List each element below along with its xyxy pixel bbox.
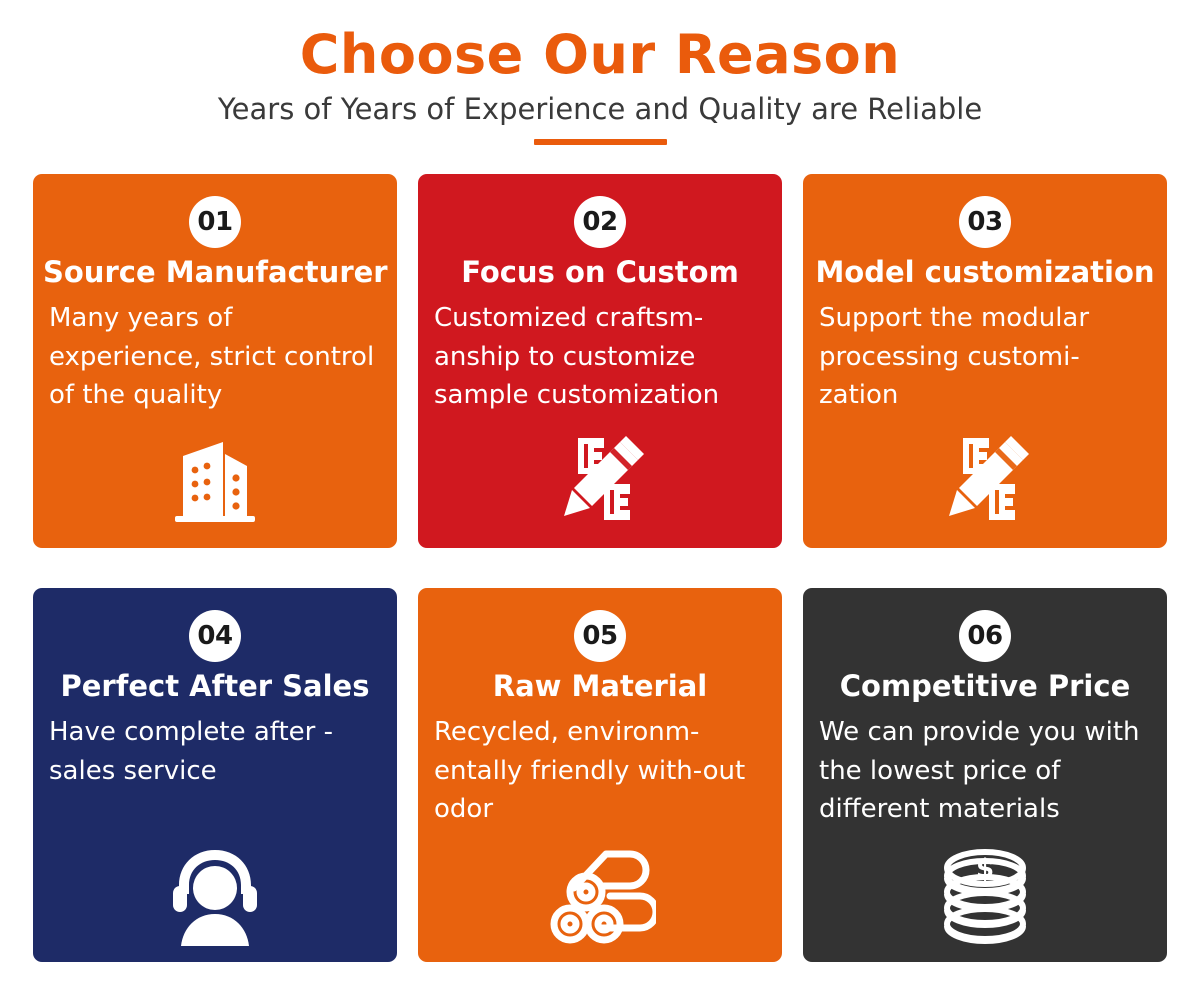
card-body: We can provide you with the lowest price… [813, 713, 1157, 828]
reason-card-05[interactable]: 05 Raw Material Recycled, environm-ental… [418, 588, 782, 962]
card-heading: Perfect After Sales [43, 670, 387, 703]
card-number-badge: 03 [959, 196, 1011, 248]
reason-card-grid: 01 Source Manufacturer Many years of exp… [33, 174, 1167, 962]
page-subtitle: Years of Years of Experience and Quality… [0, 92, 1200, 127]
card-heading: Model customization [813, 256, 1157, 289]
card-heading: Competitive Price [813, 670, 1157, 703]
title-underline-bar [534, 139, 667, 145]
page-title: Choose Our Reason [0, 24, 1200, 86]
svg-text:$: $ [976, 854, 994, 884]
card-icon-wrap [33, 430, 397, 530]
card-heading: Source Manufacturer [43, 256, 387, 289]
card-heading: Focus on Custom [428, 256, 772, 289]
office-building-icon [165, 430, 265, 530]
card-heading: Raw Material [428, 670, 772, 703]
reason-card-01[interactable]: 01 Source Manufacturer Many years of exp… [33, 174, 397, 548]
card-number-badge: 05 [574, 610, 626, 662]
card-body: Customized craftsm-anship to customize s… [428, 299, 772, 414]
card-number-badge: 04 [189, 610, 241, 662]
card-body: Many years of experience, strict control… [43, 299, 387, 414]
reason-card-04[interactable]: 04 Perfect After Sales Have complete aft… [33, 588, 397, 962]
reason-card-03[interactable]: 03 Model customization Support the modul… [803, 174, 1167, 548]
header: Choose Our Reason Years of Years of Expe… [0, 0, 1200, 145]
card-body: Have complete after -sales service [43, 713, 387, 790]
card-number-badge: 02 [574, 196, 626, 248]
card-icon-wrap [418, 430, 782, 530]
reason-card-06[interactable]: 06 Competitive Price We can provide you … [803, 588, 1167, 962]
card-icon-wrap [33, 836, 397, 948]
pencil-ruler-icon [933, 426, 1037, 530]
reason-card-02[interactable]: 02 Focus on Custom Customized craftsm-an… [418, 174, 782, 548]
card-number-badge: 06 [959, 610, 1011, 662]
headset-support-icon [161, 844, 269, 948]
infographic-page: Choose Our Reason Years of Years of Expe… [0, 0, 1200, 1000]
stacked-pipes-icon [544, 842, 656, 948]
pencil-ruler-icon [548, 426, 652, 530]
card-body: Recycled, environm-entally friendly with… [428, 713, 772, 828]
coin-stack-icon: $ [937, 844, 1033, 948]
card-number-badge: 01 [189, 196, 241, 248]
card-icon-wrap [418, 836, 782, 948]
card-body: Support the modular processing customi-z… [813, 299, 1157, 414]
card-icon-wrap: $ [803, 836, 1167, 948]
card-icon-wrap [803, 430, 1167, 530]
